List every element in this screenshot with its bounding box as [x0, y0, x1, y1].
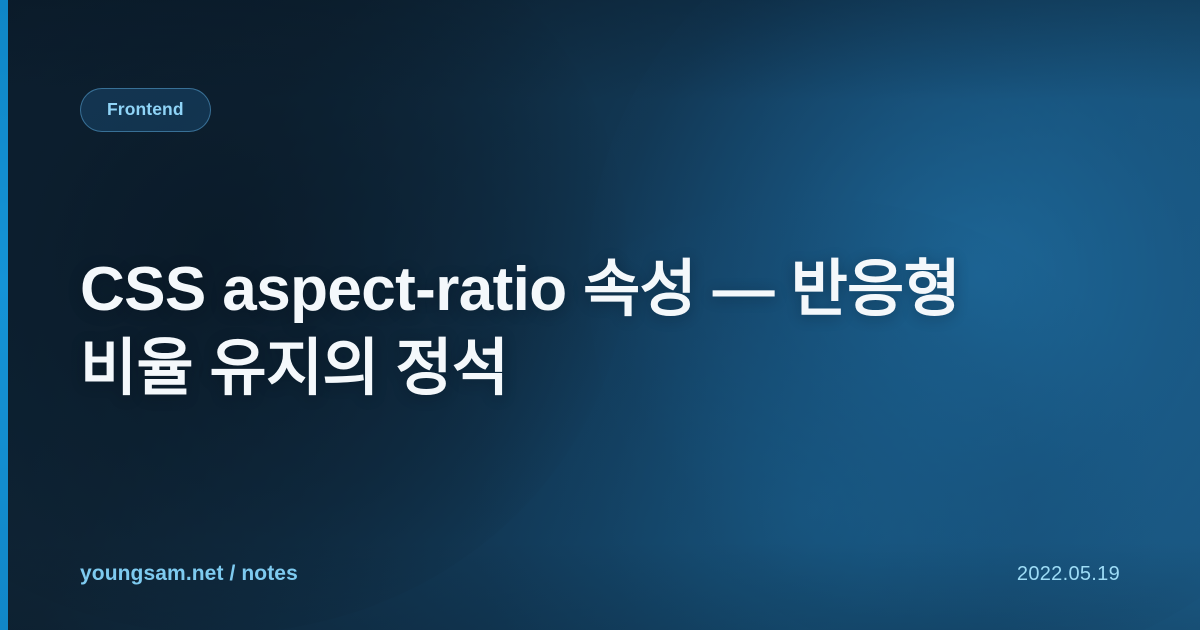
card-footer: youngsam.net / notes 2022.05.19 [80, 562, 1120, 586]
left-accent-bar [0, 0, 8, 630]
title-block: CSS aspect-ratio 속성 — 반응형 비율 유지의 정석 [80, 132, 1120, 562]
category-badge[interactable]: Frontend [80, 88, 211, 132]
page-title-line-2: 비율 유지의 정석 [80, 334, 508, 403]
page-title-line-1: CSS aspect-ratio 속성 — 반응형 [80, 255, 960, 324]
badge-row: Frontend [80, 88, 1120, 132]
publish-date: 2022.05.19 [1017, 563, 1120, 586]
site-name[interactable]: youngsam.net / notes [80, 562, 298, 586]
card-content: Frontend CSS aspect-ratio 속성 — 반응형 비율 유지… [0, 0, 1200, 630]
og-card: Frontend CSS aspect-ratio 속성 — 반응형 비율 유지… [0, 0, 1200, 630]
page-title: CSS aspect-ratio 속성 — 반응형 비율 유지의 정석 [80, 250, 1040, 409]
